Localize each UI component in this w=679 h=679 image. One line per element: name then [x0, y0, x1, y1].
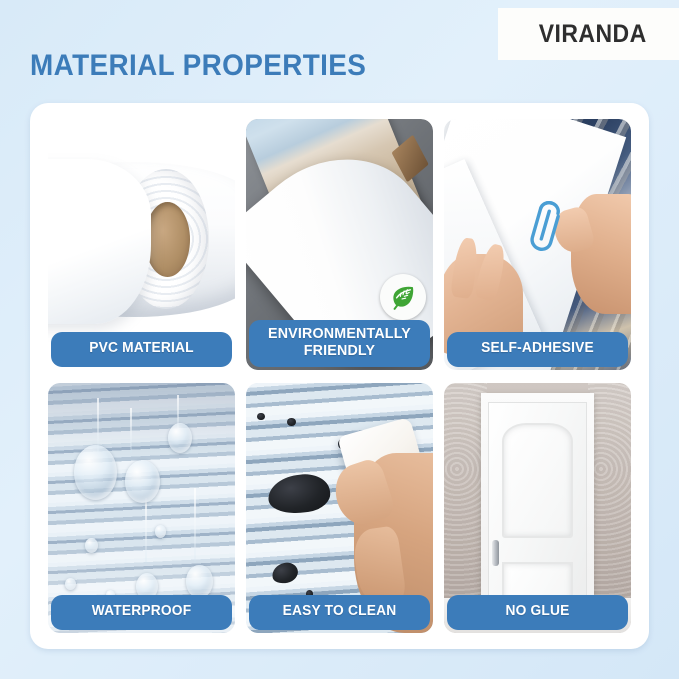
page-title: MATERIAL PROPERTIES: [30, 49, 366, 83]
leaf-icon: [380, 274, 426, 320]
feature-label-easy-to-clean: EASY TO CLEAN: [249, 595, 430, 630]
feature-label-line: ENVIRONMENTALLY: [257, 326, 421, 343]
material-properties-infographic: VIRANDA MATERIAL PROPERTIES PVC MATERIAL: [0, 0, 679, 679]
brand-name: VIRANDA: [539, 20, 647, 49]
feature-cell-easy-to-clean[interactable]: EASY TO CLEAN: [246, 383, 433, 634]
feature-label-line: FRIENDLY: [257, 343, 421, 360]
feature-label-self-adhesive: SELF-ADHESIVE: [447, 332, 628, 367]
feature-label-line: SELF-ADHESIVE: [455, 341, 619, 357]
feature-label-line: EASY TO CLEAN: [257, 604, 421, 620]
feature-cell-no-glue[interactable]: NO GLUE: [444, 383, 631, 634]
feature-cell-self-adhesive[interactable]: SELF-ADHESIVE: [444, 119, 631, 370]
feature-cell-environmentally-friendly[interactable]: ENVIRONMENTALLY FRIENDLY: [246, 119, 433, 370]
brand-badge: VIRANDA: [498, 8, 679, 60]
feature-label-line: NO GLUE: [455, 604, 619, 620]
features-card: PVC MATERIAL: [30, 103, 649, 649]
feature-cell-pvc-material[interactable]: PVC MATERIAL: [48, 119, 235, 370]
feature-label-no-glue: NO GLUE: [447, 595, 628, 630]
feature-label-line: PVC MATERIAL: [59, 341, 223, 357]
feature-cell-waterproof[interactable]: WATERPROOF: [48, 383, 235, 634]
feature-label-pvc-material: PVC MATERIAL: [51, 332, 232, 367]
feature-label-environmentally-friendly: ENVIRONMENTALLY FRIENDLY: [249, 320, 430, 367]
features-grid: PVC MATERIAL: [48, 119, 631, 633]
door-handle-icon: [492, 540, 499, 566]
feature-label-line: WATERPROOF: [59, 604, 223, 620]
feature-label-waterproof: WATERPROOF: [51, 595, 232, 630]
